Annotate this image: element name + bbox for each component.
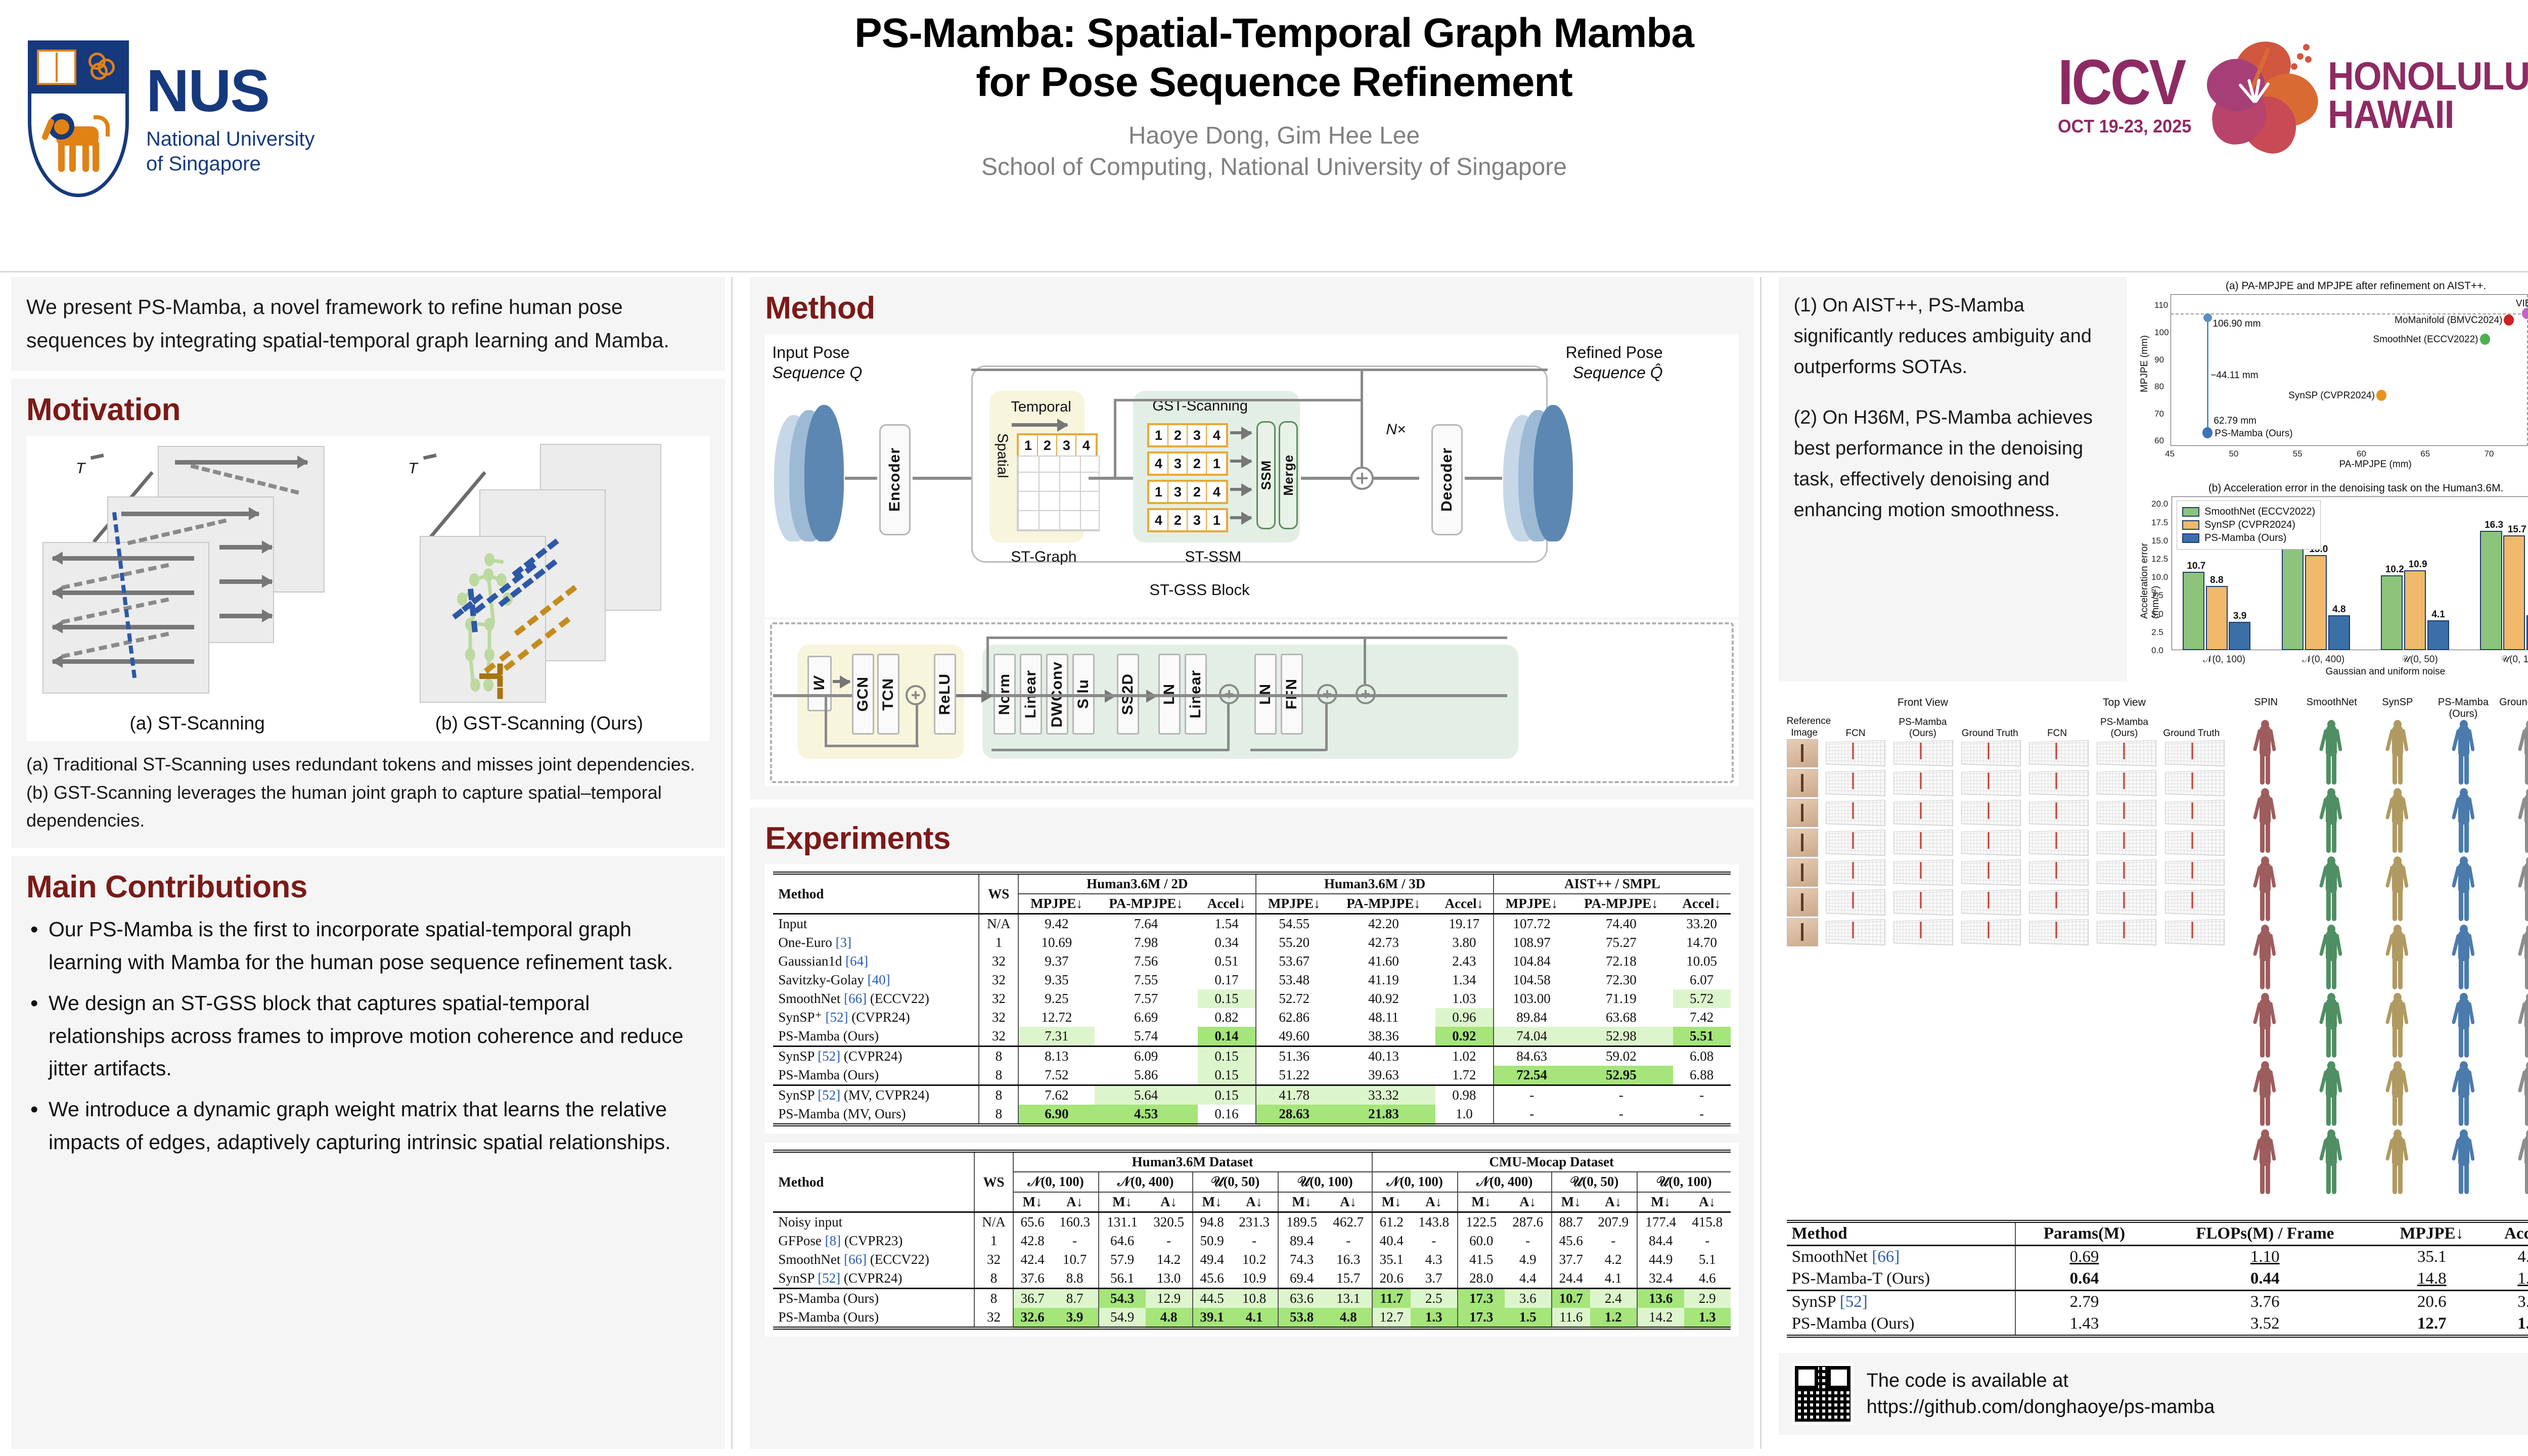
pose-figure	[2233, 925, 2297, 991]
pose-figure	[2431, 1061, 2496, 1128]
table-row: PS-Mamba (Ours)87.525.860.1551.2239.631.…	[773, 1066, 1730, 1085]
table-cell: -	[1052, 1232, 1099, 1250]
table-cell: 5.1	[1684, 1250, 1731, 1269]
qualitative-row	[1787, 888, 2225, 917]
results-table-2-wrapper: Method WS Human3.6M Dataset CMU-Mocap Da…	[765, 1143, 1738, 1337]
row-method: SynSP [52] (CVPR24)	[773, 1046, 979, 1066]
table-cell: 160.3	[1052, 1212, 1099, 1232]
table-cell: 4.1	[1590, 1269, 1637, 1289]
pose-figure	[2498, 720, 2528, 787]
legend-label: PS-Mamba (Ours)	[2204, 532, 2286, 544]
pose-figure	[2431, 925, 2496, 991]
row-method: Input	[773, 914, 979, 934]
table-cell: 0.17	[1198, 971, 1256, 989]
pose-figure	[2498, 856, 2528, 923]
annotation-1: −44.11 mm	[2210, 370, 2258, 381]
reference-image	[1787, 858, 1818, 887]
qualitative-row	[1787, 829, 2225, 857]
table-cell: 49.60	[1256, 1027, 1332, 1046]
bar-value-label: 10.2	[2385, 564, 2404, 575]
row-ws: 1	[979, 933, 1018, 952]
table-row: PS-Mamba-T (Ours)0.640.4414.81.6	[1787, 1268, 2528, 1291]
table-cell: 44.9	[1637, 1250, 1684, 1269]
table-cell: 20.6	[1372, 1269, 1411, 1289]
column-divider-1	[731, 277, 733, 1449]
col-label: Ground Truth	[2496, 697, 2528, 720]
metric-header: M↓	[1013, 1192, 1052, 1212]
table-cell: 4.8	[1325, 1308, 1372, 1328]
metric-header: M↓	[1372, 1192, 1411, 1212]
table-cell: 42.4	[1013, 1250, 1052, 1269]
tcn-block: TCN	[880, 678, 897, 711]
table-row: One-Euro [3]110.697.980.3455.2042.733.80…	[773, 933, 1730, 952]
mesh-cell	[2091, 829, 2157, 857]
mesh-cell	[2091, 799, 2157, 827]
contributions-panel: Main Contributions Our PS-Mamba is the f…	[11, 856, 725, 1449]
noise-header: 𝒩(0, 400)	[1458, 1172, 1552, 1192]
row-method: SynSP [52] (MV, CVPR24)	[773, 1085, 979, 1105]
table-cell: 7.52	[1018, 1066, 1094, 1085]
mesh-cell	[2159, 739, 2225, 767]
list-item: Our PS-Mamba is the first to incorporate…	[26, 913, 710, 979]
row-method: One-Euro [3]	[773, 933, 979, 952]
charts-column: (a) PA-MPJPE and MPJPE after refinement …	[2134, 277, 2528, 681]
bar-value-label: 16.3	[2485, 520, 2503, 531]
x-tick-label: 𝒰(0, 50)	[2402, 654, 2438, 665]
table-cell: 287.6	[1505, 1212, 1552, 1232]
table-cell: -	[1673, 1085, 1731, 1105]
y-tick-label: 100	[2154, 328, 2169, 338]
metric-header: A↓	[1052, 1192, 1099, 1212]
table-cell: 3.52	[2153, 1313, 2377, 1336]
table-cell: 50.9	[1193, 1232, 1231, 1250]
gcn-block: GCN	[854, 676, 872, 712]
table-cell: 3.7	[1411, 1269, 1458, 1289]
x-tick-label: 55	[2293, 449, 2303, 459]
table-cell: 69.4	[1278, 1269, 1325, 1289]
column-middle: Method Input Pose Sequence Q Refined Pos…	[750, 277, 1753, 1449]
point-label: SynSP (CVPR2024)	[2288, 390, 2375, 401]
pose-figure	[2498, 1061, 2528, 1128]
legend-label: SynSP (CVPR2024)	[2204, 519, 2295, 531]
col-label: SmoothNet	[2299, 697, 2365, 720]
table-cell: 1.54	[1198, 914, 1256, 934]
table-cell: 0.15	[1198, 1085, 1256, 1105]
weight-matrix-block: W	[811, 676, 828, 691]
table-cell: 0.44	[2153, 1268, 2377, 1291]
table-row: SynSP⁺ [52] (CVPR24)3212.726.690.8262.86…	[773, 1008, 1730, 1027]
table-cell: 56.1	[1099, 1269, 1146, 1289]
table-cell: 1.43	[2015, 1313, 2153, 1336]
table-cell: 54.9	[1099, 1308, 1146, 1328]
mesh-cell	[1820, 829, 1886, 857]
qualitative-row	[2233, 856, 2528, 923]
table-cell: 40.13	[1332, 1046, 1435, 1066]
table-row: SmoothNet [66] (ECCV22)3242.410.757.914.…	[773, 1250, 1730, 1269]
metric-header: M↓	[1458, 1192, 1505, 1212]
reference-image	[1787, 769, 1818, 797]
improvement-arrow	[2207, 313, 2208, 433]
row-ws: 8	[974, 1269, 1013, 1289]
table-cell: 13.0	[1146, 1269, 1193, 1289]
table-cell: 42.20	[1332, 914, 1435, 934]
metric-header: A↓	[1684, 1192, 1731, 1212]
table-cell: -	[1231, 1232, 1278, 1250]
refined-pose-label: Refined Pose	[1566, 343, 1663, 362]
reference-image	[1787, 918, 1818, 946]
table-cell: 2.4	[1590, 1289, 1637, 1308]
row-ws: 32	[979, 989, 1018, 1008]
abstract-panel: We present PS-Mamba, a novel framework t…	[11, 277, 725, 371]
table-cell: 10.8	[1231, 1289, 1278, 1308]
table-cell: 4.6	[1684, 1269, 1731, 1289]
table-cell: 40.92	[1332, 989, 1435, 1008]
table-cell: 8.13	[1018, 1046, 1094, 1066]
reference-image	[1787, 829, 1818, 857]
table-cell: 0.14	[1198, 1027, 1256, 1046]
st-gss-block-label: ST-GSS Block	[1149, 581, 1249, 599]
table-cell: 3.9	[1052, 1308, 1099, 1328]
table-cell: 1.0	[1435, 1105, 1494, 1125]
table-cell: 0.64	[2015, 1268, 2153, 1291]
table-row: GFPose [8] (CVPR23)142.8-64.6-50.9-89.4-…	[773, 1232, 1730, 1250]
table-cell: 3.80	[1435, 933, 1494, 952]
table-cell: 39.63	[1332, 1066, 1435, 1085]
table-cell: 5.64	[1095, 1085, 1198, 1105]
table-cell: 4.8	[1146, 1308, 1193, 1328]
table-cell: 10.69	[1018, 933, 1094, 952]
y-tick-label: 80	[2154, 382, 2164, 392]
table-cell: 38.36	[1332, 1027, 1435, 1046]
row-ws: 8	[979, 1046, 1018, 1066]
table-cell: 4.2	[1590, 1250, 1637, 1269]
table-cell: 94.8	[1193, 1212, 1231, 1232]
table-cell: 4.3	[1411, 1250, 1458, 1269]
qualitative-row	[1787, 769, 2225, 797]
poster-columns: We present PS-Mamba, a novel framework t…	[0, 277, 2528, 1455]
row-ws: 32	[979, 971, 1018, 989]
table-row: SynSP [52] (CVPR24)88.136.090.1551.3640.…	[773, 1046, 1730, 1066]
table-cell: 32.6	[1013, 1308, 1052, 1328]
scatter-chart: (a) PA-MPJPE and MPJPE after refinement …	[2134, 277, 2528, 474]
iccv-logo: ICCV OCT 19-23, 2025 HONOLULU HAWAII	[2058, 29, 2528, 161]
table-cell: 16.3	[1325, 1250, 1372, 1269]
nus-wordmark: NUS	[146, 61, 314, 121]
qualitative-row	[1787, 858, 2225, 887]
motivation-caption: (a) Traditional ST-Scanning uses redunda…	[26, 750, 710, 835]
y-tick-label: 20.0	[2151, 499, 2168, 509]
bar	[2480, 531, 2502, 650]
col-label: PS-Mamba (Ours)	[1889, 717, 1957, 739]
table-cell: 5.86	[1095, 1066, 1198, 1085]
pose-figure	[2233, 1129, 2297, 1196]
metric-header: A↓	[1411, 1192, 1458, 1212]
table-cell: 104.58	[1494, 971, 1569, 989]
qualitative-row	[1787, 918, 2225, 946]
table-cell: 7.56	[1095, 952, 1198, 971]
experiments-panel: Experiments Method WS Human3.6M / 2D Hum…	[750, 807, 1753, 1449]
repo-url[interactable]: https://github.com/donghaoye/ps-mamba	[1867, 1394, 2215, 1420]
legend-swatch	[2182, 520, 2199, 530]
front-view-label: Front View	[1822, 697, 2024, 709]
mesh-cell	[1956, 739, 2021, 767]
table-cell: 71.19	[1569, 989, 1673, 1008]
table-cell: 74.04	[1494, 1027, 1569, 1046]
table-cell: 5.72	[1673, 989, 1731, 1008]
table-cell: 63.6	[1278, 1289, 1325, 1308]
pose-figure	[2233, 993, 2297, 1060]
row-method: Savitzky-Golay [40]	[773, 971, 979, 989]
table-cell: 14.2	[1146, 1250, 1193, 1269]
bar-value-label: 3.9	[2233, 611, 2246, 622]
data-point	[2480, 334, 2490, 345]
reference-image	[1787, 799, 1818, 827]
metric-header: A↓	[1590, 1192, 1637, 1212]
table-cell: -	[1590, 1232, 1637, 1250]
table-cell: 59.02	[1569, 1046, 1673, 1066]
table-cell: 6.09	[1095, 1046, 1198, 1066]
row-method: SmoothNet [66]	[1787, 1246, 2016, 1268]
noise-header: 𝒩(0, 100)	[1372, 1172, 1458, 1192]
pose-figure	[2498, 993, 2528, 1060]
poster-header: NUS National University of Singapore PS-…	[0, 0, 2528, 273]
insight-1: (1) On AIST++, PS-Mamba significantly re…	[1794, 290, 2112, 382]
table-cell: 6.07	[1673, 971, 1731, 989]
table-row: SynSP [52] (MV, CVPR24)87.625.640.1541.7…	[773, 1085, 1730, 1105]
table-cell: 462.7	[1325, 1212, 1372, 1232]
table-cell: 3.7	[2487, 1291, 2528, 1313]
mesh-cell	[1956, 918, 2021, 946]
top-view-label: Top View	[2023, 697, 2225, 709]
reference-image	[1787, 888, 1818, 917]
row-method: PS-Mamba (Ours)	[773, 1289, 974, 1308]
merge-block: Merge	[1281, 454, 1296, 496]
y-tick-label: 90	[2154, 355, 2164, 365]
point-label: MoManifold (BMVC2024)	[2395, 315, 2502, 326]
table-cell: -	[1569, 1085, 1673, 1105]
table-cell: 52.95	[1569, 1066, 1673, 1085]
legend-swatch	[2182, 507, 2199, 517]
table-cell: 4.4	[1505, 1269, 1552, 1289]
bar-value-label: 15.7	[2508, 524, 2526, 535]
pose-figure	[2431, 993, 2496, 1060]
table-cell: 37.6	[1013, 1269, 1052, 1289]
table-row: SynSP [52]2.793.7620.63.7	[1787, 1291, 2528, 1313]
table-cell: 32.4	[1637, 1269, 1684, 1289]
table-cell: 52.72	[1256, 989, 1332, 1008]
efficiency-table-wrapper: Method Params(M) FLOPs(M) / Frame MPJPE↓…	[1779, 1213, 2528, 1345]
encoder-block: Encoder	[886, 447, 904, 512]
table-cell: 10.9	[1231, 1269, 1278, 1289]
table-row: PS-Mamba (MV, Ours)86.904.530.1628.6321.…	[773, 1105, 1730, 1125]
table-cell: -	[1569, 1105, 1673, 1125]
table-cell: 6.08	[1673, 1046, 1731, 1066]
nus-subtitle-line1: National University	[146, 127, 314, 152]
efficiency-table: Method Params(M) FLOPs(M) / Frame MPJPE↓…	[1787, 1220, 2528, 1338]
mesh-cell	[1956, 888, 2021, 917]
pose-figure	[2299, 1129, 2364, 1196]
x-tick-label: 𝒩(0, 400)	[2303, 654, 2345, 665]
legend-item: SynSP (CVPR2024)	[2182, 519, 2315, 531]
x-axis-title: PA-MPJPE (mm)	[2339, 459, 2412, 470]
table-cell: 62.86	[1256, 1008, 1332, 1027]
bar-value-label: 10.9	[2409, 559, 2427, 570]
poster-title-line2: for Pose Sequence Refinement	[597, 58, 1952, 107]
mesh-cell	[1820, 769, 1886, 797]
spatial-label: Spatial	[994, 433, 1010, 478]
table-cell: -	[1505, 1232, 1552, 1250]
x-axis-title: Gaussian and uniform noise	[2326, 666, 2446, 677]
table-cell: 10.05	[1673, 952, 1731, 971]
col-label: SPIN	[2233, 697, 2299, 720]
row-method: SynSP⁺ [52] (CVPR24)	[773, 1008, 979, 1027]
table-cell: 1.6	[2487, 1268, 2528, 1291]
table-cell: 75.27	[1569, 933, 1673, 952]
table-cell: 42.73	[1332, 933, 1435, 952]
table-cell: 41.60	[1332, 952, 1435, 971]
results-table-1: Method WS Human3.6M / 2D Human3.6M / 3D …	[773, 872, 1730, 1126]
col-label: Ground Truth	[1956, 728, 2023, 739]
table-cell: 9.25	[1018, 989, 1094, 1008]
vibe-horizontal-guide	[2171, 313, 2528, 314]
row-method: PS-Mamba (Ours)	[773, 1027, 979, 1046]
table-cell: 37.7	[1552, 1250, 1590, 1269]
bar	[2381, 575, 2403, 650]
table-cell: 4.53	[1095, 1105, 1198, 1125]
table-cell: 0.15	[1198, 1046, 1256, 1066]
col-label: Ground Truth	[2158, 728, 2225, 739]
table-cell: 74.3	[1278, 1250, 1325, 1269]
pose-figure	[2365, 1061, 2429, 1128]
table-cell: 14.8	[2377, 1268, 2487, 1291]
mesh-cell	[1820, 739, 1886, 767]
table-cell: -	[1684, 1232, 1731, 1250]
table-cell: 10.2	[1231, 1250, 1278, 1269]
mesh-cell	[1956, 858, 2021, 887]
results-table-2: Method WS Human3.6M Dataset CMU-Mocap Da…	[773, 1150, 1730, 1330]
mesh-cell	[2091, 888, 2157, 917]
table-row: PS-Mamba (Ours)1.433.5212.71.3	[1787, 1313, 2528, 1336]
mesh-cell	[2023, 799, 2089, 827]
row-ws: 32	[979, 952, 1018, 971]
pose-figure	[2299, 993, 2364, 1060]
point-label: VIBE	[2516, 298, 2528, 309]
col-label: FCN	[2023, 728, 2091, 739]
table-cell: 6.88	[1673, 1066, 1731, 1085]
results-table-1-wrapper: Method WS Human3.6M / 2D Human3.6M / 3D …	[765, 864, 1738, 1133]
row-ws: 32	[974, 1250, 1013, 1269]
row-ws: 8	[979, 1105, 1018, 1125]
qualitative-results-panel: Front View Top View Reference Image FCN …	[1779, 690, 2528, 1205]
qualitative-row	[2233, 1129, 2528, 1196]
x-tick-label: 65	[2420, 449, 2430, 459]
pose-figure	[2431, 720, 2496, 787]
row-method: PS-Mamba (Ours)	[773, 1066, 979, 1085]
x-tick-label: 45	[2165, 449, 2175, 459]
pose-figure	[2233, 788, 2297, 855]
experiments-title: Experiments	[765, 821, 1738, 856]
relu-block: ReLU	[936, 673, 954, 715]
mesh-cell	[2159, 769, 2225, 797]
row-ws: 8	[979, 1085, 1018, 1105]
table-cell: 28.0	[1458, 1269, 1505, 1289]
mesh-cell	[1956, 829, 2021, 857]
table-cell: -	[1494, 1085, 1569, 1105]
table-cell: 2.5	[1411, 1289, 1458, 1308]
col-label: SynSP	[2365, 697, 2430, 720]
x-tick-label: 𝒩(0, 100)	[2203, 654, 2245, 665]
mesh-cell	[1888, 829, 1954, 857]
table-cell: 55.20	[1256, 933, 1332, 952]
table-cell: 415.8	[1684, 1212, 1731, 1232]
table-cell: 54.55	[1256, 914, 1332, 934]
table-cell: 131.1	[1099, 1212, 1146, 1232]
row-method: PS-Mamba (Ours)	[1787, 1313, 2016, 1336]
method-title: Method	[765, 290, 1738, 326]
table-cell: 41.78	[1256, 1085, 1332, 1105]
column-right: (1) On AIST++, PS-Mamba significantly re…	[1779, 277, 2528, 1449]
legend-item: PS-Mamba (Ours)	[2182, 532, 2315, 544]
bar	[2427, 620, 2449, 650]
table-row: SmoothNet [66] (ECCV22)329.257.570.1552.…	[773, 989, 1730, 1008]
mesh-cell	[1888, 888, 1954, 917]
table-cell: 143.8	[1411, 1212, 1458, 1232]
row-ws: 8	[974, 1289, 1013, 1308]
row-method: PS-Mamba (MV, Ours)	[773, 1105, 979, 1125]
pose-figure	[2365, 720, 2429, 787]
table-cell: 189.5	[1278, 1212, 1325, 1232]
qualitative-row	[2233, 925, 2528, 991]
nus-logo: NUS National University of Singapore	[28, 35, 412, 202]
table-cell: 1.3	[2487, 1313, 2528, 1336]
table-cell: 48.11	[1332, 1008, 1435, 1027]
table-cell: 9.37	[1018, 952, 1094, 971]
bar	[2305, 555, 2327, 650]
mesh-cell	[1888, 858, 1954, 887]
qualitative-row	[2233, 993, 2528, 1060]
contributions-title: Main Contributions	[26, 869, 710, 905]
table-cell: 12.7	[1372, 1308, 1411, 1328]
table-cell: 7.42	[1673, 1008, 1731, 1027]
pose-figure	[2498, 1129, 2528, 1196]
qualitative-right: SPINSmoothNetSynSPPS-Mamba (Ours)Ground …	[2233, 697, 2528, 1198]
bar	[2282, 546, 2304, 650]
table-cell: 21.83	[1332, 1105, 1435, 1125]
insights-and-charts-row: (1) On AIST++, PS-Mamba significantly re…	[1779, 277, 2528, 681]
pose-figure	[2365, 993, 2429, 1060]
table-row: PS-Mamba (Ours)327.315.740.1449.6038.360…	[773, 1027, 1730, 1046]
table-cell: 5.51	[1673, 1027, 1731, 1046]
method-architecture-figure: Input Pose Sequence Q Refined Pose Seque…	[765, 334, 1738, 617]
code-availability-footer: The code is available at https://github.…	[1779, 1353, 2528, 1435]
y-tick-label: 70	[2154, 409, 2164, 419]
table-cell: 15.7	[1325, 1269, 1372, 1289]
pose-figure	[2365, 1129, 2429, 1196]
table-cell: -	[1673, 1105, 1731, 1125]
legend-swatch	[2182, 533, 2199, 543]
table-cell: 0.51	[1198, 952, 1256, 971]
row-ws: 1	[974, 1232, 1013, 1250]
y-tick-label: 110	[2154, 300, 2168, 310]
bar	[2503, 535, 2525, 650]
pose-figure	[2299, 788, 2364, 855]
motivation-title: Motivation	[26, 392, 710, 428]
noise-header: 𝒰(0, 100)	[1278, 1172, 1372, 1192]
table-row: InputN/A9.427.641.5454.5542.2019.17107.7…	[773, 914, 1730, 934]
table-cell: 20.6	[2377, 1291, 2487, 1313]
table-cell: 60.0	[1458, 1232, 1505, 1250]
table-cell: 0.96	[1435, 1008, 1494, 1027]
